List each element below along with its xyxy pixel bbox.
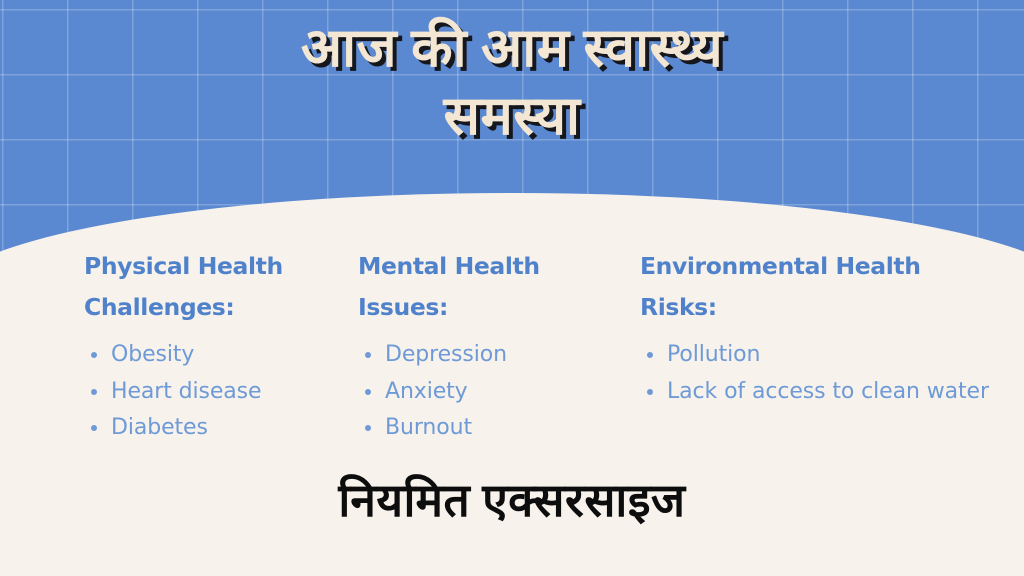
list-item-label: Pollution	[667, 342, 760, 367]
bullet-dot-icon	[365, 389, 371, 395]
list-item-label: Heart disease	[111, 379, 261, 404]
column-heading: Mental Health Issues:	[358, 246, 620, 328]
content-columns: Physical Health Challenges: Obesity Hear…	[0, 246, 1024, 456]
list-item: Depression	[358, 337, 620, 374]
page-title: आज की आम स्वास्थ्य समस्या	[0, 14, 1024, 150]
list-item-label: Burnout	[385, 415, 472, 440]
footer-text: नियमित एक्सरसाइज	[338, 475, 685, 526]
list-item-label: Depression	[385, 342, 507, 367]
list-item-label: Anxiety	[385, 379, 468, 404]
list-item-label: Obesity	[111, 342, 194, 367]
list-item: Diabetes	[84, 410, 331, 447]
list-item-label: Diabetes	[111, 415, 208, 440]
bullet-dot-icon	[365, 352, 371, 358]
list-item: Pollution	[640, 337, 998, 374]
bullet-dot-icon	[91, 389, 97, 395]
title-line-1: आज की आम स्वास्थ्य	[0, 14, 1024, 82]
bullet-dot-icon	[647, 352, 653, 358]
column-heading: Environmental Health Risks:	[640, 246, 998, 328]
list-item-label: Lack of access to clean water	[667, 379, 989, 404]
title-line-2: समस्या	[0, 82, 1024, 150]
list-item: Burnout	[358, 410, 620, 447]
bullet-dot-icon	[365, 425, 371, 431]
bullet-dot-icon	[647, 389, 653, 395]
bullet-list: Pollution Lack of access to clean water	[640, 337, 998, 410]
list-item: Anxiety	[358, 374, 620, 411]
column-environmental-health: Environmental Health Risks: Pollution La…	[630, 246, 1024, 456]
column-physical-health: Physical Health Challenges: Obesity Hear…	[0, 246, 345, 456]
column-mental-health: Mental Health Issues: Depression Anxiety…	[345, 246, 630, 456]
slide-canvas: आज की आम स्वास्थ्य समस्या Physical Healt…	[0, 0, 1024, 576]
bullet-dot-icon	[91, 352, 97, 358]
footer-caption: नियमित एक्सरसाइज	[0, 470, 1024, 532]
column-heading: Physical Health Challenges:	[84, 246, 331, 328]
list-item: Heart disease	[84, 374, 331, 411]
bullet-dot-icon	[91, 425, 97, 431]
list-item: Obesity	[84, 337, 331, 374]
bullet-list: Obesity Heart disease Diabetes	[84, 337, 331, 447]
list-item: Lack of access to clean water	[640, 374, 998, 411]
bullet-list: Depression Anxiety Burnout	[358, 337, 620, 447]
